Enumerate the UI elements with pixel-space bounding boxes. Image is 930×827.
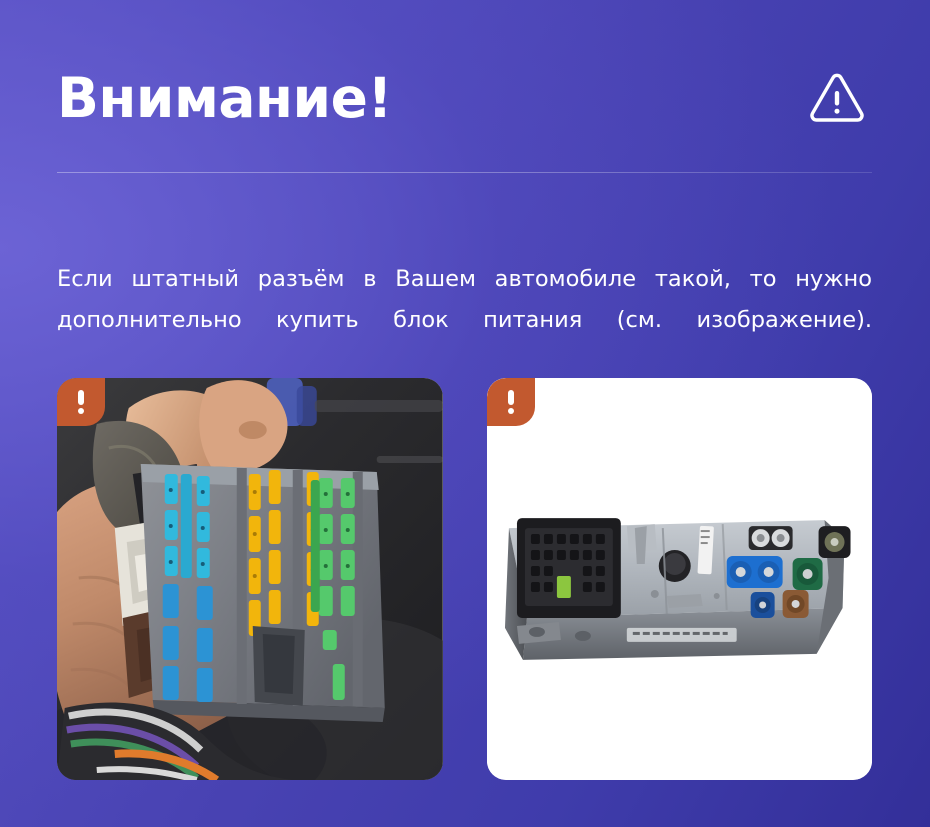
exclamation-dot [78, 408, 84, 414]
exclamation-badge-icon [487, 378, 535, 426]
card-power-supply-photo [487, 378, 873, 780]
header-divider [57, 172, 872, 173]
card-connector-photo [57, 378, 443, 780]
exclamation-glyph [508, 390, 514, 414]
image-cards [57, 378, 872, 780]
exclamation-bar [78, 390, 84, 405]
warning-banner: Внимание! Если штатный разъём в Вашем ав… [0, 0, 930, 827]
exclamation-badge-icon [57, 378, 105, 426]
warning-triangle-icon [808, 69, 866, 127]
connector-photo [57, 378, 443, 780]
body-text: Если штатный разъём в Вашем автомобиле т… [57, 259, 872, 382]
power-supply-photo [487, 378, 873, 780]
page-title: Внимание! [57, 71, 392, 126]
banner-header: Внимание! [57, 52, 872, 144]
exclamation-dot [508, 408, 514, 414]
exclamation-glyph [78, 390, 84, 414]
exclamation-bar [508, 390, 514, 405]
